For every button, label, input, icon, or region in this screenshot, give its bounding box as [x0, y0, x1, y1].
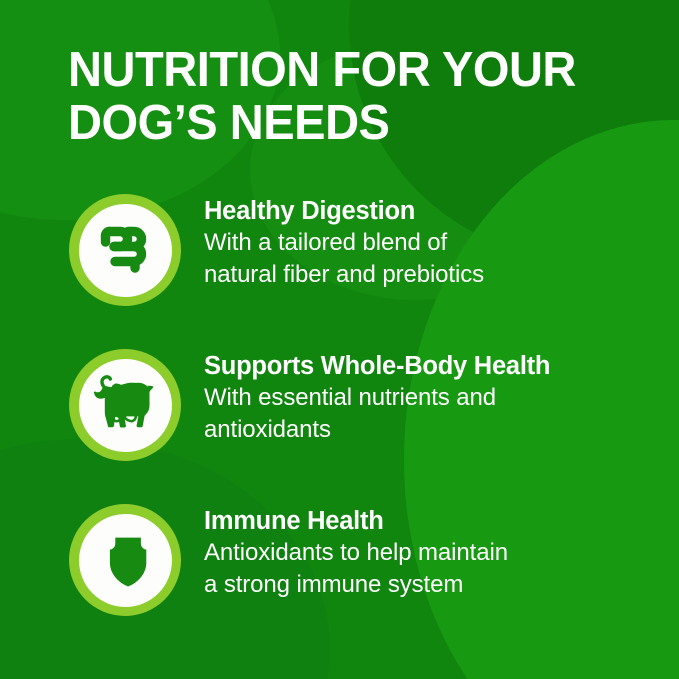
feature-item-healthy-digestion: Healthy Digestion With a tailored blend …	[0, 182, 679, 337]
icon-disc	[79, 204, 172, 297]
feature-title: Immune Health	[204, 506, 679, 536]
feature-list: Healthy Digestion With a tailored blend …	[0, 182, 679, 647]
shield-icon	[95, 527, 155, 593]
feature-text: Immune Health Antioxidants to help maint…	[181, 492, 679, 601]
feature-description: With a tailored blend of natural fiber a…	[204, 227, 679, 291]
icon-badge	[69, 194, 181, 306]
feature-text: Supports Whole-Body Health With essentia…	[181, 337, 679, 446]
icon-disc	[79, 514, 172, 607]
feature-description: Antioxidants to help maintain a strong i…	[204, 537, 679, 601]
feature-title: Healthy Digestion	[204, 196, 679, 226]
feature-item-whole-body-health: Supports Whole-Body Health With essentia…	[0, 337, 679, 492]
icon-badge	[69, 349, 181, 461]
nutrition-benefits-poster: Nutrition for your dog’s needs	[0, 0, 679, 679]
feature-text: Healthy Digestion With a tailored blend …	[181, 182, 679, 291]
icon-badge	[69, 504, 181, 616]
feature-item-immune-health: Immune Health Antioxidants to help maint…	[0, 492, 679, 647]
page-title: Nutrition for your dog’s needs	[68, 44, 606, 150]
icon-disc	[79, 359, 172, 452]
intestine-icon	[94, 219, 156, 281]
dog-atom-icon	[91, 373, 159, 437]
feature-title: Supports Whole-Body Health	[204, 351, 679, 381]
feature-description: With essential nutrients and antioxidant…	[204, 382, 679, 446]
